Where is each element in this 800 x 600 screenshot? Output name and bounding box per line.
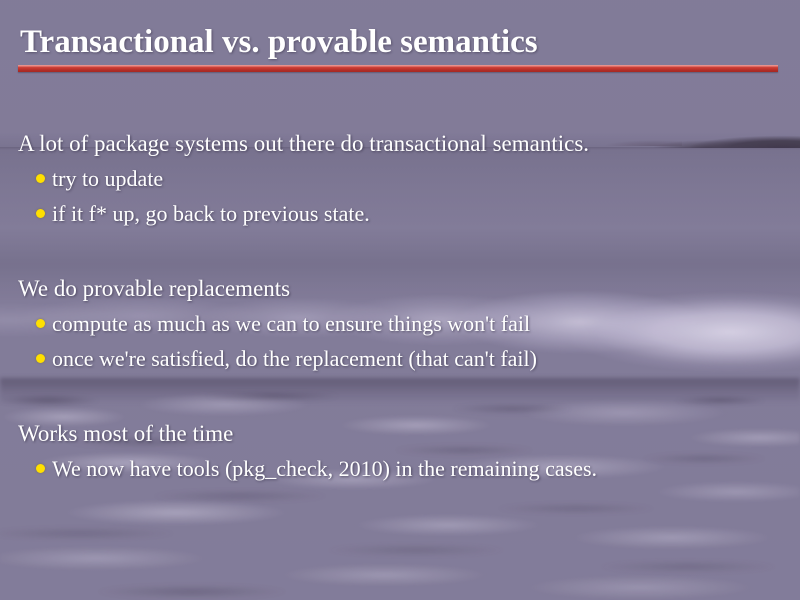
title-underline-rule xyxy=(18,65,778,72)
block-spacer xyxy=(0,231,800,271)
bullet-item: We now have tools (pkg_check, 2010) in t… xyxy=(52,451,800,486)
bullet-item: if it f* up, go back to previous state. xyxy=(52,196,800,231)
slide-body: A lot of package systems out there do tr… xyxy=(0,126,800,486)
bullet-dot-icon xyxy=(36,319,45,328)
block-spacer xyxy=(0,376,800,416)
bullet-text: try to update xyxy=(52,166,163,191)
bullet-dot-icon xyxy=(36,209,45,218)
block-heading: We do provable replacements xyxy=(18,271,800,306)
bullet-item: compute as much as we can to ensure thin… xyxy=(52,306,800,341)
bullet-dot-icon xyxy=(36,174,45,183)
block-heading: Works most of the time xyxy=(18,416,800,451)
bullet-dot-icon xyxy=(36,464,45,473)
slide-title: Transactional vs. provable semantics xyxy=(20,24,538,61)
bullet-text: We now have tools (pkg_check, 2010) in t… xyxy=(52,456,597,481)
bullet-item: try to update xyxy=(52,161,800,196)
presentation-slide: Transactional vs. provable semantics A l… xyxy=(0,0,800,600)
block-heading: A lot of package systems out there do tr… xyxy=(18,126,800,161)
bullet-text: if it f* up, go back to previous state. xyxy=(52,201,370,226)
bullet-item: once we're satisfied, do the replacement… xyxy=(52,341,800,376)
bullet-text: once we're satisfied, do the replacement… xyxy=(52,346,537,371)
bullet-text: compute as much as we can to ensure thin… xyxy=(52,311,530,336)
bullet-dot-icon xyxy=(36,354,45,363)
